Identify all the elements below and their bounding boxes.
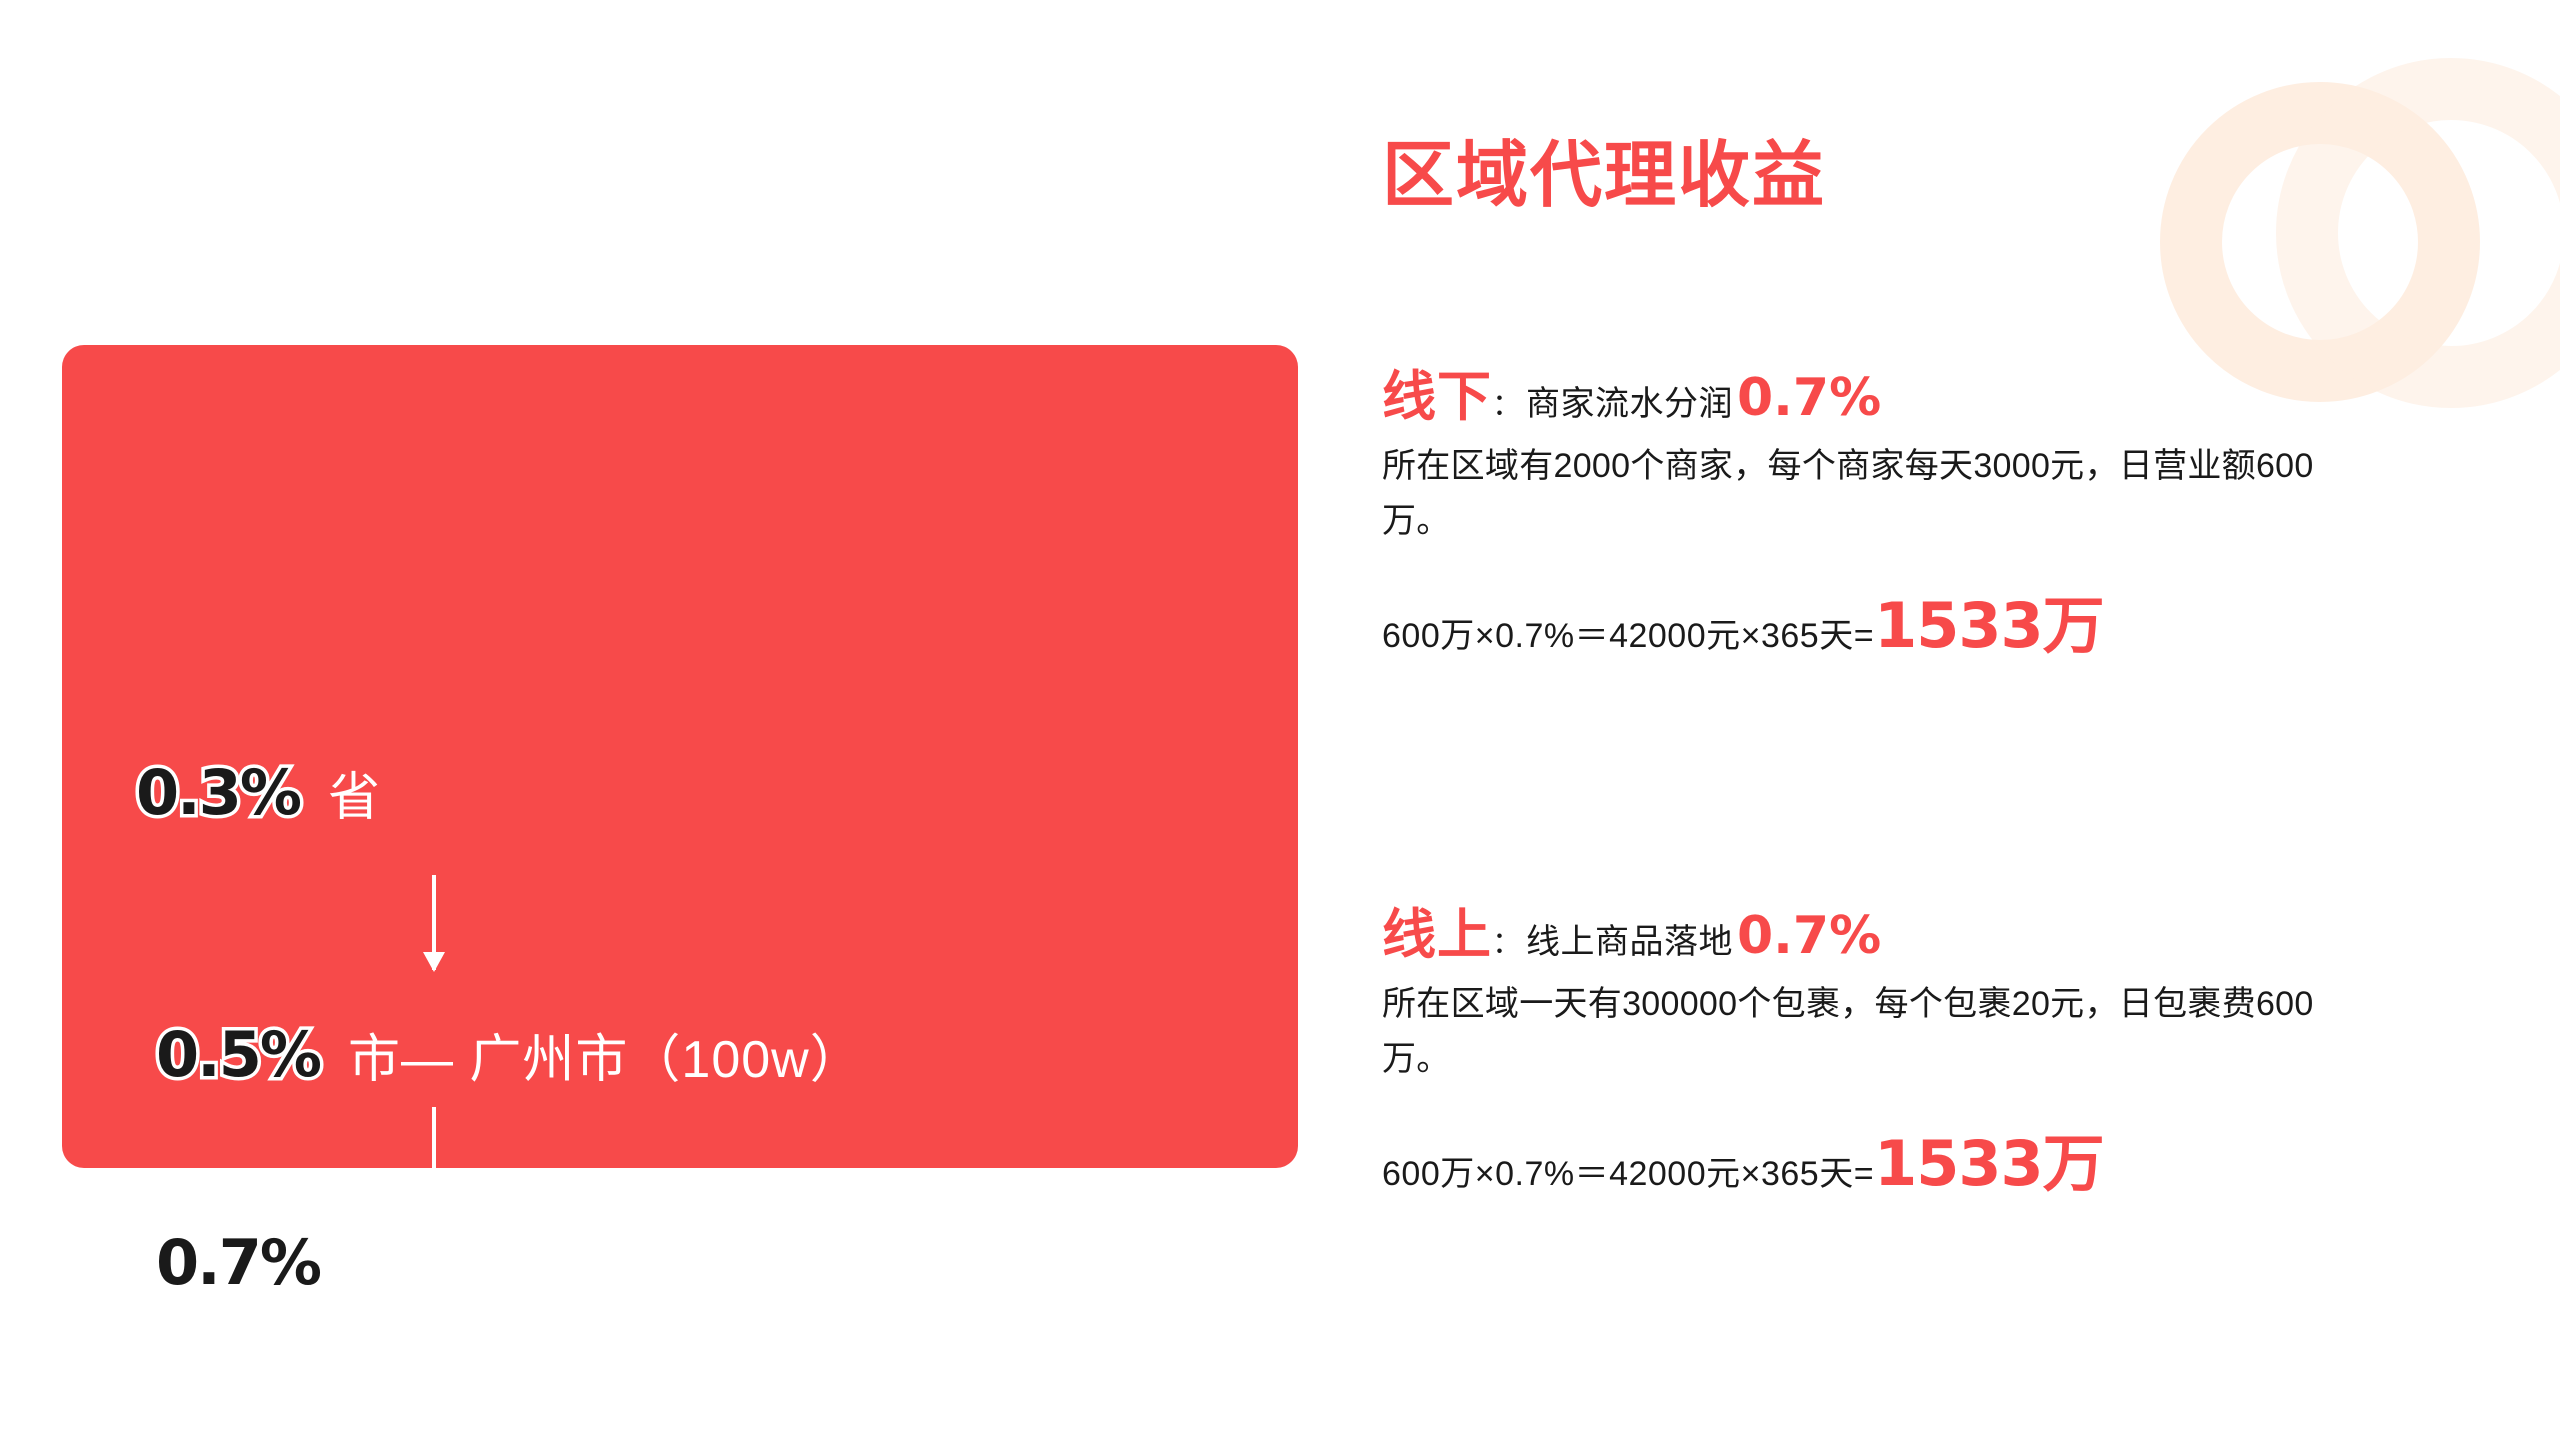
list-item: 区代A（30W） bbox=[1060, 1181, 1320, 1272]
bracket-branch bbox=[1000, 1211, 1042, 1215]
section-online-kicker: 线上 bbox=[1382, 890, 1492, 969]
bracket-branch bbox=[1000, 1393, 1042, 1397]
section-offline-colon: ： bbox=[1492, 380, 1522, 424]
list-item: 区代B（10W） bbox=[1060, 1272, 1320, 1363]
section-offline-formula-result: 1533万 bbox=[1874, 595, 2104, 657]
section-online-formula: 600万×0.7%＝42000元×365天= 1533万 bbox=[1382, 1133, 2502, 1195]
section-online-formula-result: 1533万 bbox=[1874, 1133, 2104, 1195]
arrow-down-icon-city-to-district bbox=[432, 1107, 436, 1202]
sub-agent-list: 区代A（30W） 区代B（10W） 区代C（10W） bbox=[1060, 1181, 1320, 1454]
hierarchy-label-city: 市— 广州市（100w） bbox=[348, 1017, 863, 1092]
section-online-description: 线上商品落地 bbox=[1526, 914, 1733, 963]
section-online-formula-expression: 600万×0.7%＝42000元×365天= bbox=[1382, 1146, 1874, 1195]
bracket-branch bbox=[1000, 1302, 1042, 1306]
sub-agent-bracket-icon bbox=[1000, 1211, 1042, 1397]
arrow-down-icon-province-to-city bbox=[432, 875, 436, 970]
hierarchy-percent-city: 0.5% bbox=[156, 1018, 320, 1091]
section-online-rate: 0.7% bbox=[1737, 906, 1881, 966]
page-title: 区域代理收益 bbox=[1382, 116, 1826, 221]
section-offline-body: 所在区域有2000个商家，每个商家每天3000元，日营业额600万。 bbox=[1382, 439, 2332, 549]
section-offline-heading: 线下 ： 商家流水分润 0.7% bbox=[1382, 352, 2502, 431]
hierarchy-row-city: 0.5% 市— 广州市（100w） bbox=[156, 1017, 863, 1092]
section-online-body: 所在区域一天有300000个包裹，每个包裹20元，日包裹费600万。 bbox=[1382, 977, 2332, 1087]
list-item: 区代C（10W） bbox=[1060, 1363, 1320, 1454]
section-offline-formula: 600万×0.7%＝42000元×365天= 1533万 bbox=[1382, 595, 2502, 657]
hierarchy-label-district: 区— 白云区（50W） bbox=[348, 1225, 844, 1300]
hierarchy-row-province: 0.3% 省 bbox=[136, 755, 381, 830]
hierarchy-percent-district: 0.7% bbox=[156, 1226, 320, 1299]
section-offline-formula-expression: 600万×0.7%＝42000元×365天= bbox=[1382, 608, 1874, 657]
section-offline-rate: 0.7% bbox=[1737, 368, 1881, 428]
hierarchy-label-province: 省 bbox=[328, 755, 381, 830]
hierarchy-percent-province: 0.3% bbox=[136, 756, 300, 829]
section-online-colon: ： bbox=[1492, 918, 1522, 962]
section-online-heading: 线上 ： 线上商品落地 0.7% bbox=[1382, 890, 2502, 969]
section-online: 线上 ： 线上商品落地 0.7% 所在区域一天有300000个包裹，每个包裹20… bbox=[1382, 890, 2502, 1195]
section-offline: 线下 ： 商家流水分润 0.7% 所在区域有2000个商家，每个商家每天3000… bbox=[1382, 352, 2502, 657]
commission-hierarchy-card: 0.3% 省 0.5% 市— 广州市（100w） 0.7% 区— 白云区（50W… bbox=[62, 345, 1298, 1168]
hierarchy-row-district: 0.7% 区— 白云区（50W） bbox=[156, 1225, 844, 1300]
section-offline-description: 商家流水分润 bbox=[1526, 376, 1733, 425]
section-offline-kicker: 线下 bbox=[1382, 352, 1492, 431]
watermark-rings-decoration bbox=[2160, 28, 2560, 328]
